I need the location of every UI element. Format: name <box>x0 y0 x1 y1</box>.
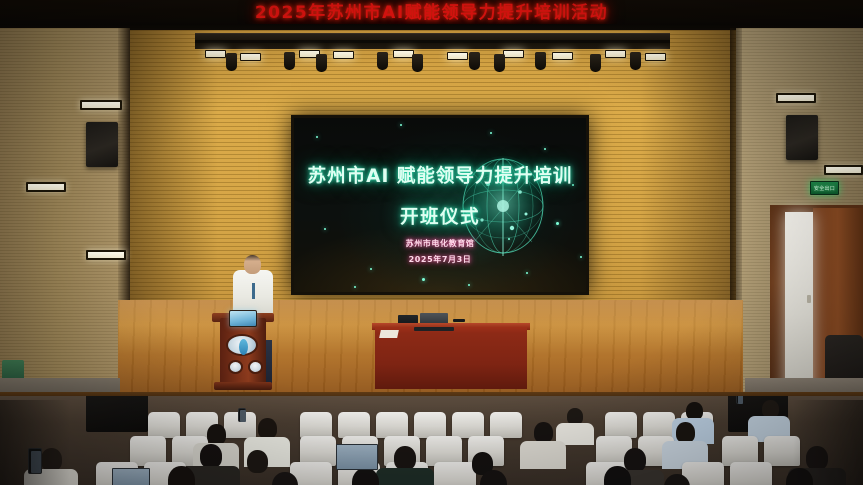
audience-head <box>480 470 507 485</box>
laptop-base <box>414 327 454 331</box>
laptop-open <box>336 444 378 470</box>
audience-head <box>394 446 416 470</box>
truss-flood-lamp <box>333 51 354 59</box>
audience-body <box>376 468 434 485</box>
audience-head <box>604 466 631 485</box>
screen-organizer: 苏州市电化教育馆 <box>294 238 586 249</box>
screen-date: 2025年7月3日 <box>294 254 586 265</box>
wall-light-strip <box>86 250 126 260</box>
podium-emblem-small-left <box>228 360 243 374</box>
phone-screen <box>240 410 246 422</box>
chair <box>148 412 180 438</box>
truss-flood-lamp <box>552 52 573 60</box>
right-corner-vignette <box>793 400 863 485</box>
chair <box>452 412 484 438</box>
truss-flood-lamp <box>503 50 524 58</box>
presenter-lanyard <box>252 283 255 299</box>
wall-mounted-speaker <box>86 122 118 167</box>
led-display-bezel: 苏州市AI 赋能领导力提升培训 开班仪式 苏州市电化教育馆 2025年7月3日 <box>291 115 589 295</box>
truss-spotlight <box>535 52 546 70</box>
wall-light-strip <box>80 100 122 110</box>
podium-base <box>214 382 272 390</box>
auditorium-scene: 2025年苏州市AI赋能领导力提升培训活动 安全出口 <box>0 0 863 485</box>
chair <box>434 462 476 485</box>
conference-table <box>375 327 527 389</box>
truss-spotlight <box>316 54 327 72</box>
audience-body <box>520 441 566 469</box>
truss-spotlight <box>630 52 641 70</box>
truss-cross-bar <box>195 40 670 43</box>
paper-on-table <box>379 330 399 338</box>
audience-head <box>624 448 646 472</box>
truss-flood-lamp <box>240 53 261 61</box>
chair <box>605 412 637 438</box>
audience-head <box>247 450 268 473</box>
led-display-screen: 苏州市AI 赋能领导力提升培训 开班仪式 苏州市电化教育馆 2025年7月3日 <box>294 118 586 292</box>
truss-flood-lamp <box>645 53 666 61</box>
wall-mounted-speaker <box>786 115 818 160</box>
truss-spotlight <box>412 54 423 72</box>
exit-sign-label: 安全出口 <box>814 185 835 192</box>
wall-light-strip <box>776 93 816 103</box>
audience-head <box>676 422 695 443</box>
laptop-open <box>112 468 150 485</box>
truss-flood-lamp <box>205 50 226 58</box>
chair <box>643 412 675 438</box>
audience-head <box>207 424 226 445</box>
truss-spotlight <box>284 52 295 70</box>
truss-spotlight <box>469 52 480 70</box>
event-banner-text: 2025年苏州市AI赋能领导力提升培训活动 <box>0 2 863 24</box>
audience-head <box>534 422 553 443</box>
truss-spotlight <box>494 54 505 72</box>
podium-emblem-small-right <box>248 360 263 374</box>
audience-head <box>200 444 222 468</box>
podium-emblem-large <box>226 334 258 356</box>
truss-spotlight <box>377 52 388 70</box>
wall-light-strip <box>26 182 66 192</box>
truss-flood-lamp <box>393 50 414 58</box>
truss-flood-lamp <box>447 52 468 60</box>
podium-monitor <box>229 310 257 327</box>
chair <box>376 412 408 438</box>
smartphone-recording <box>238 408 246 422</box>
chair <box>490 412 522 438</box>
microphone-on-table <box>453 319 465 322</box>
audience-head <box>258 418 277 439</box>
left-side-wall <box>0 28 130 400</box>
presenter-head <box>244 255 261 274</box>
truss-spotlight <box>226 53 237 71</box>
truss-flood-lamp <box>605 50 626 58</box>
floor-speaker-left <box>86 396 148 432</box>
exit-sign: 安全出口 <box>810 181 839 195</box>
chair <box>414 412 446 438</box>
audience-head <box>168 466 195 485</box>
chair <box>338 412 370 438</box>
chair <box>730 462 772 485</box>
wall-light-strip <box>824 165 863 175</box>
truss-spotlight <box>590 54 601 72</box>
smartphone-recording <box>736 396 743 404</box>
screen-title-line-2: 开班仪式 <box>294 203 586 229</box>
screen-title-line-1: 苏州市AI 赋能领导力提升培训 <box>294 162 586 188</box>
seated-audience <box>0 396 863 485</box>
door-handle[interactable] <box>807 295 811 303</box>
open-doorway-light <box>785 212 813 397</box>
left-corner-vignette <box>0 400 70 485</box>
chair <box>300 412 332 438</box>
phone-screen <box>738 396 743 404</box>
